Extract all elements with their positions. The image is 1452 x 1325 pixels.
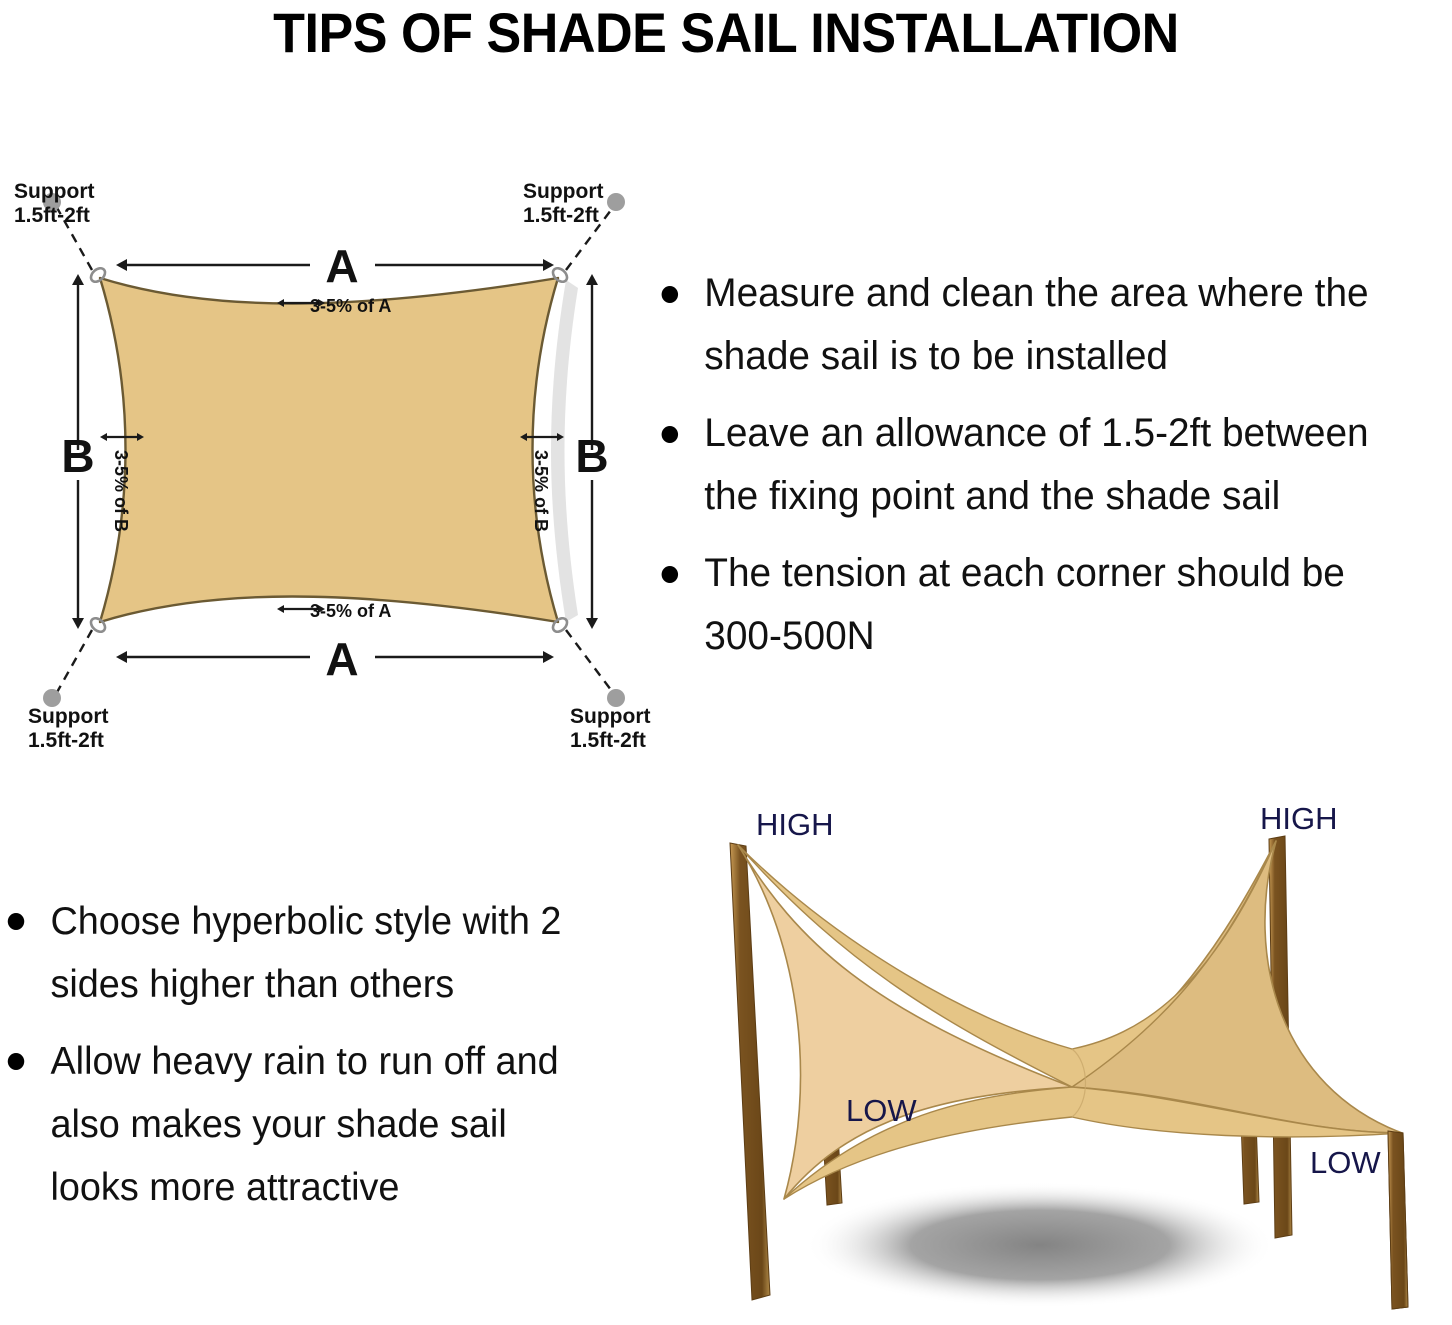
dimension-label-a-top: A	[325, 240, 358, 292]
list-item-text: Choose hyperbolic style with 2 sides hig…	[50, 900, 561, 1006]
dimension-label-a-bottom: A	[325, 633, 358, 685]
curve-note-bottom: 3-5% of A	[284, 601, 391, 621]
support-label-bottom-right-line2: 1.5ft-2ft	[570, 729, 646, 752]
list-item: Leave an allowance of 1.5-2ft between th…	[648, 402, 1428, 528]
top-diagram-container: Support 1.5ft-2ft Support 1.5ft-2ft Supp…	[0, 160, 660, 740]
support-label-top-left-line2: 1.5ft-2ft	[14, 204, 90, 227]
page-title: TIPS OF SHADE SAIL INSTALLATION	[51, 2, 1401, 64]
list-item-text: The tension at each corner should be 300…	[704, 551, 1345, 658]
list-item: The tension at each corner should be 300…	[648, 542, 1428, 668]
pole-high-left	[730, 843, 770, 1300]
support-label-top-left-line1: Support	[14, 180, 94, 203]
support-label-bottom-right-line1: Support	[570, 705, 650, 728]
curve-note-left-text: 3-5% of B	[111, 450, 131, 532]
support-label-bottom-left: Support 1.5ft-2ft	[28, 705, 108, 752]
support-label-bottom-right: Support 1.5ft-2ft	[570, 705, 650, 752]
support-label-top-right: Support 1.5ft-2ft	[523, 180, 603, 227]
label-high-right: HIGH	[1260, 801, 1338, 836]
ground-shadow	[805, 1182, 1275, 1308]
curve-note-top-text: 3-5% of A	[310, 296, 391, 316]
bottom-bullets-container: Choose hyperbolic style with 2 sides hig…	[0, 890, 620, 1220]
hyperbolic-style-tips-list: Choose hyperbolic style with 2 sides hig…	[0, 890, 620, 1219]
label-low-right: LOW	[1310, 1145, 1381, 1180]
bullet-dot-icon	[662, 426, 678, 443]
bullet-dot-icon	[8, 913, 24, 930]
bullet-dot-icon	[662, 566, 678, 583]
shade-sail-shape	[100, 278, 558, 622]
list-item-text: Allow heavy rain to run off and also mak…	[50, 1040, 558, 1209]
sail-drop-shadow	[551, 280, 578, 622]
list-item: Measure and clean the area where the sha…	[648, 262, 1428, 388]
list-item: Allow heavy rain to run off and also mak…	[0, 1030, 601, 1219]
curve-note-bottom-text: 3-5% of A	[310, 601, 391, 621]
label-high-left: HIGH	[756, 807, 834, 842]
dimension-label-b-right: B	[575, 430, 608, 482]
top-bullets-container: Measure and clean the area where the sha…	[648, 262, 1452, 662]
bullet-dot-icon	[8, 1053, 24, 1070]
dimension-label-b-left: B	[61, 430, 94, 482]
bullet-dot-icon	[662, 286, 678, 303]
list-item-text: Measure and clean the area where the sha…	[704, 271, 1368, 378]
installation-tips-list: Measure and clean the area where the sha…	[648, 262, 1452, 668]
pole-low-right-front	[1388, 1131, 1408, 1309]
sail-panel-right	[1072, 841, 1402, 1133]
curve-note-right-text: 3-5% of B	[531, 450, 551, 532]
support-label-bottom-left-line2: 1.5ft-2ft	[28, 729, 104, 752]
label-low-left: LOW	[846, 1093, 917, 1128]
list-item-text: Leave an allowance of 1.5-2ft between th…	[704, 411, 1368, 518]
list-item: Choose hyperbolic style with 2 sides hig…	[0, 890, 601, 1016]
support-label-top-left: Support 1.5ft-2ft	[14, 180, 94, 227]
support-label-top-right-line2: 1.5ft-2ft	[523, 204, 599, 227]
bottom-diagram-container: HIGH HIGH LOW LOW	[620, 795, 1452, 1325]
support-label-bottom-left-line1: Support	[28, 705, 108, 728]
support-label-top-right-line1: Support	[523, 180, 603, 203]
anchor-dot-top-right	[607, 193, 625, 211]
